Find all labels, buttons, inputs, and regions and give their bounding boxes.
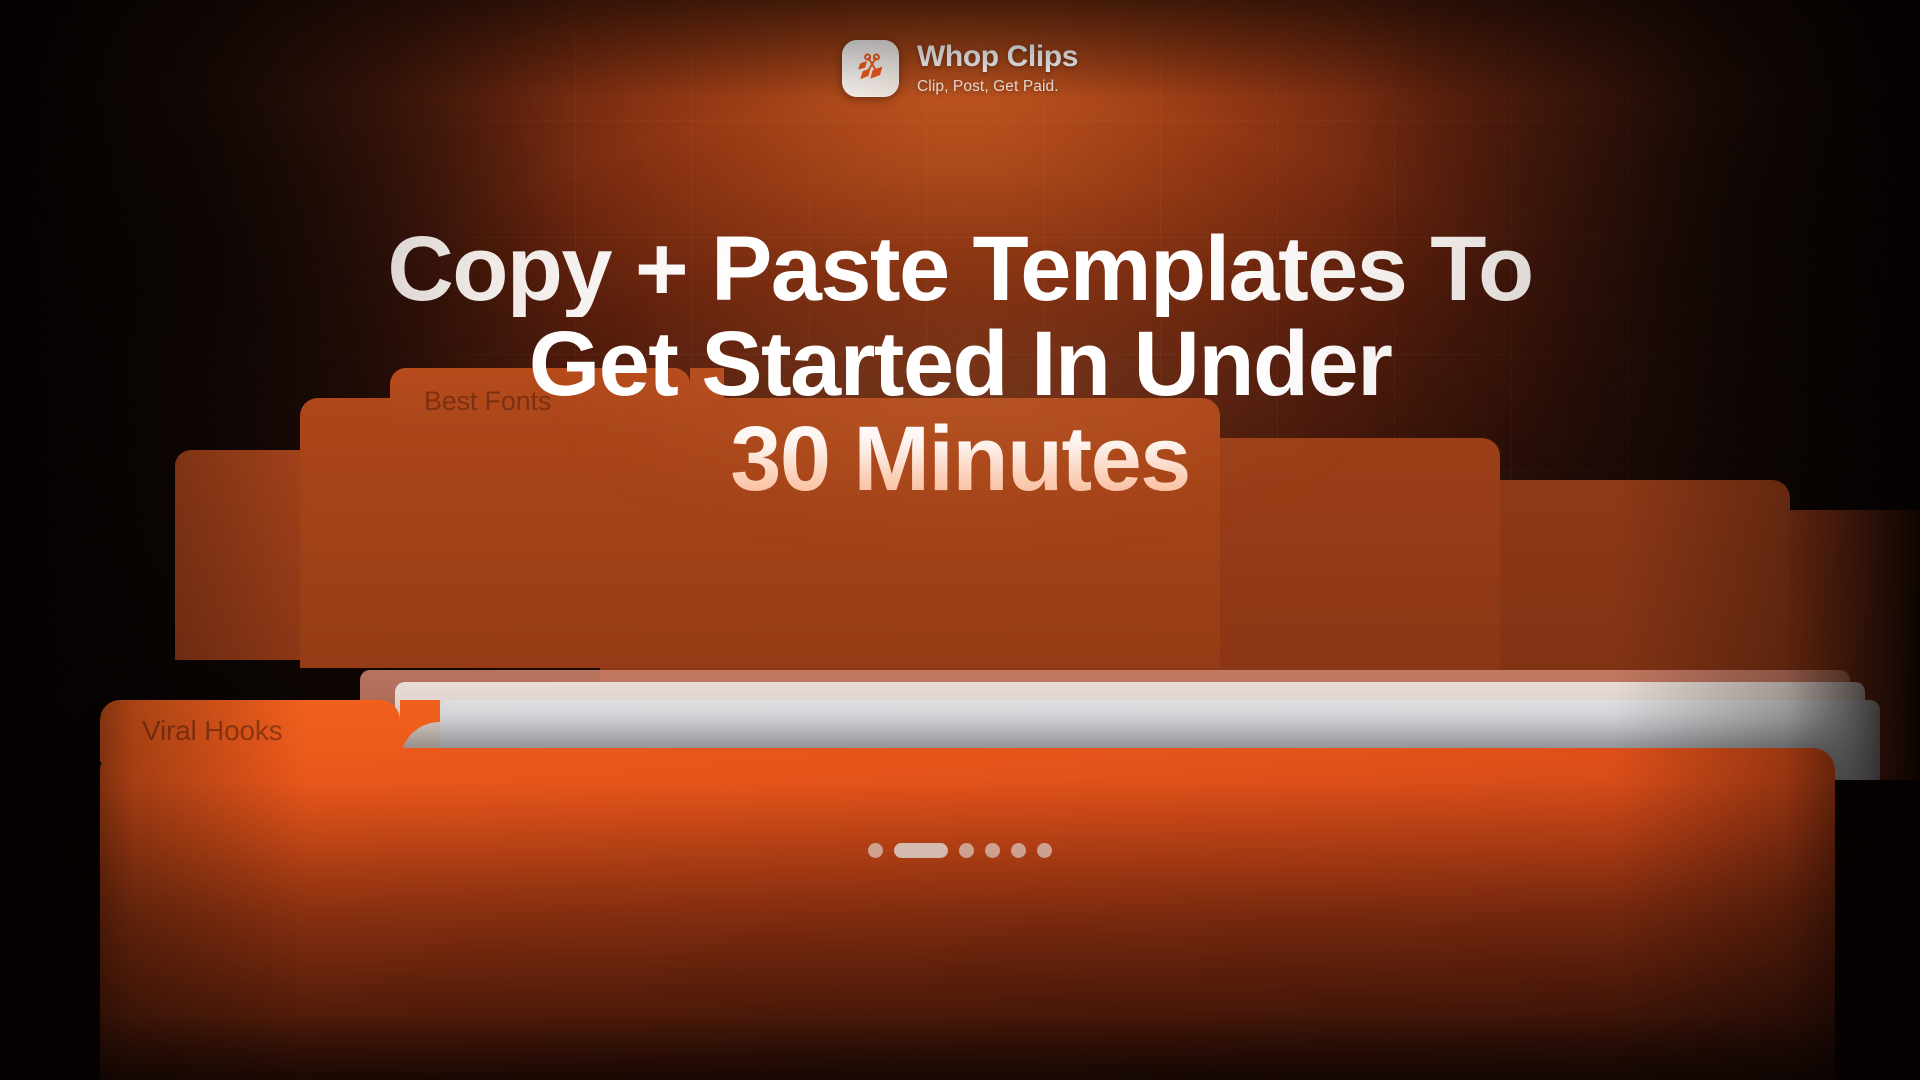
pagination-dot-3[interactable] xyxy=(959,843,974,858)
pagination-dot-4[interactable] xyxy=(985,843,1000,858)
slide-canvas: Whop Clips Clip, Post, Get Paid. Copy + … xyxy=(0,0,1920,1080)
pagination-dot-2-active[interactable] xyxy=(894,843,948,858)
pagination-dot-5[interactable] xyxy=(1011,843,1026,858)
brand-text-block: Whop Clips Clip, Post, Get Paid. xyxy=(917,42,1078,95)
headline: Copy + Paste Templates To Get Started In… xyxy=(0,222,1920,506)
headline-line-3: 30 Minutes xyxy=(90,412,1830,507)
pagination-dot-1[interactable] xyxy=(868,843,883,858)
pagination-dot-6[interactable] xyxy=(1037,843,1052,858)
folder-stack: Sounds Subtitles Effects Best Fonts xyxy=(0,460,1920,1080)
brand-name: Whop Clips xyxy=(917,42,1078,72)
folder-tab[interactable]: Viral Hooks xyxy=(100,700,400,762)
folder-tab-label: Viral Hooks xyxy=(142,715,282,747)
brand-tagline: Clip, Post, Get Paid. xyxy=(917,79,1078,95)
folder-body xyxy=(100,748,1835,1080)
folder-viral-hooks[interactable]: Viral Hooks xyxy=(100,700,1835,1080)
brand-logo: Whop Clips Clip, Post, Get Paid. xyxy=(842,40,1078,97)
pagination-dots[interactable] xyxy=(868,843,1052,858)
headline-line-2: Get Started In Under xyxy=(90,317,1830,412)
headline-line-1: Copy + Paste Templates To xyxy=(90,222,1830,317)
scissors-cut-icon xyxy=(842,40,899,97)
